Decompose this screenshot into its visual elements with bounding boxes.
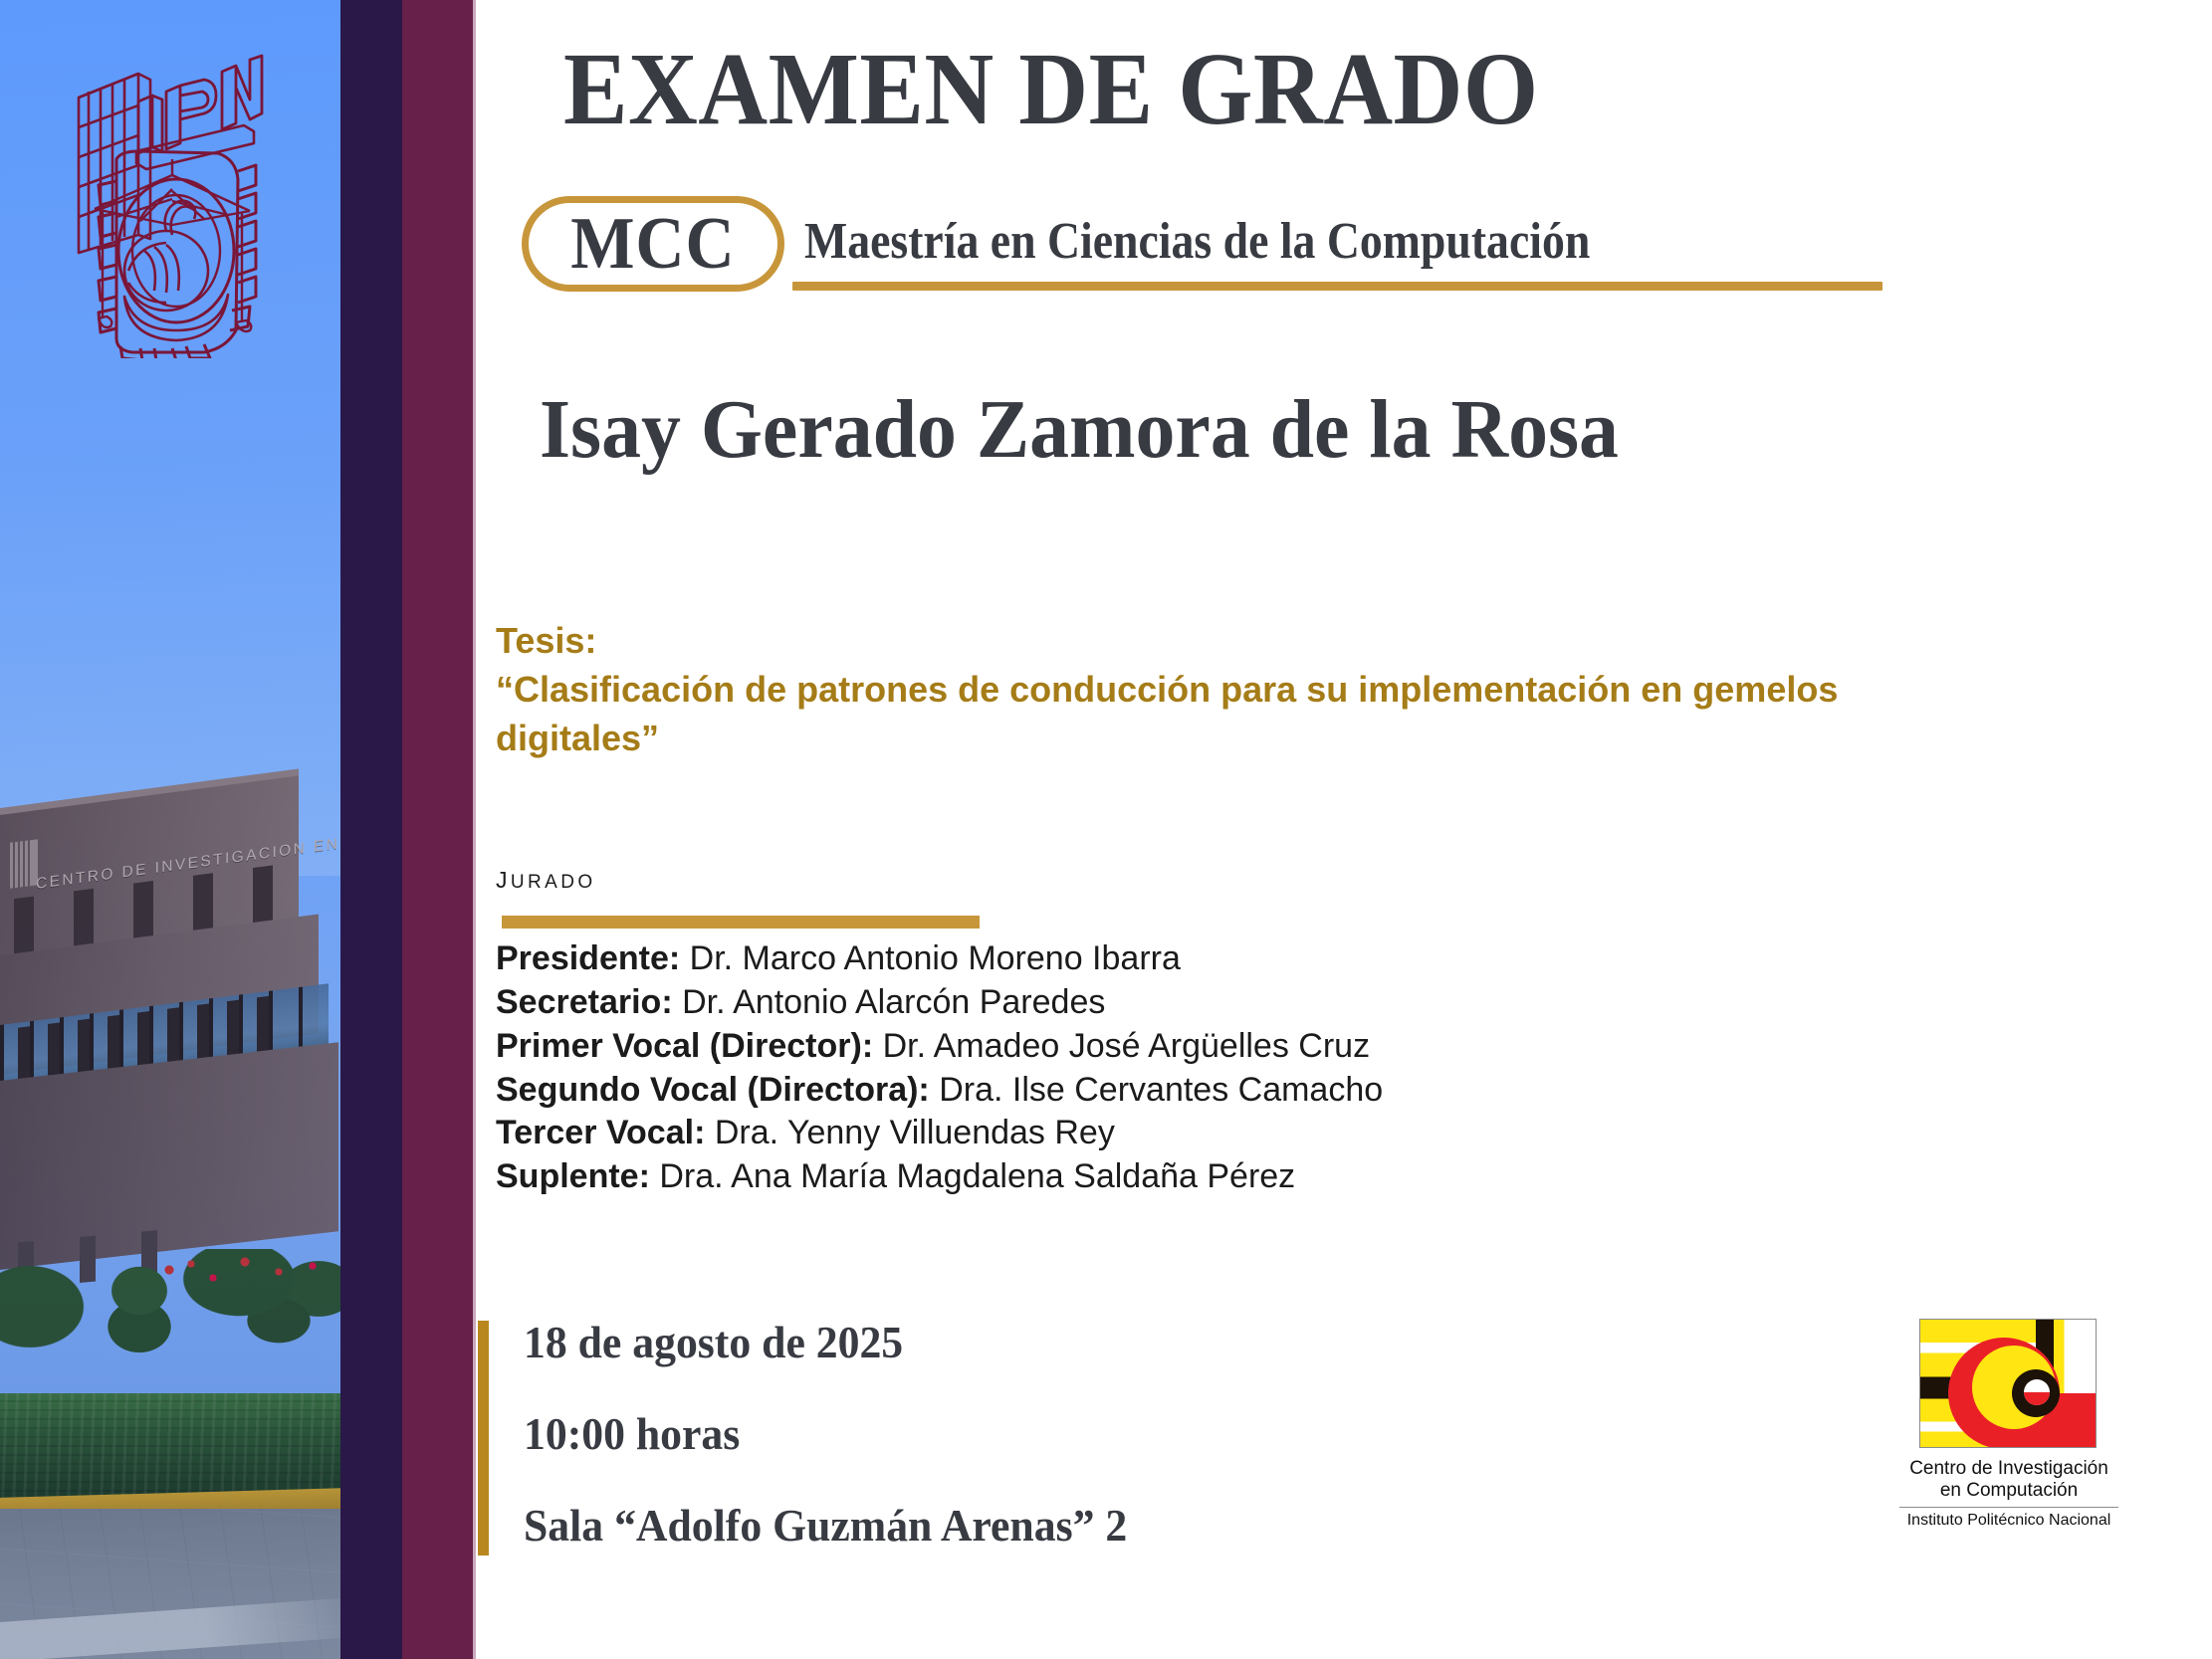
event-gold-bar: [478, 1321, 489, 1555]
event-details: 18 de agosto de 2025 10:00 horas Sala “A…: [524, 1316, 1159, 1552]
cic-logo-text: Centro de Investigación en Computación: [1899, 1458, 2118, 1503]
jury-role: Suplente:: [496, 1157, 650, 1195]
thesis-block: Tesis: “Clasificación de patrones de con…: [496, 617, 1989, 763]
cic-logo-mark: [1919, 1319, 2097, 1448]
jury-role: Segundo Vocal (Directora):: [496, 1071, 930, 1109]
jury-row: Tercer Vocal: Dra. Yenny Villuendas Rey: [496, 1112, 2049, 1155]
jury-list: Presidente: Dr. Marco Antonio Moreno Iba…: [496, 937, 2049, 1199]
ipn-emblem-logo: [55, 40, 264, 358]
event-date: 18 de agosto de 2025: [524, 1316, 1127, 1368]
jury-name: Dr. Antonio Alarcón Paredes: [673, 983, 1106, 1021]
program-name: Maestría en Ciencias de la Computación: [804, 216, 1590, 268]
jury-row: Suplente: Dra. Ana María Magdalena Salda…: [496, 1155, 2049, 1199]
jury-role: Primer Vocal (Director):: [496, 1027, 873, 1065]
jury-role: Presidente:: [496, 939, 680, 977]
decorative-navy-strip: [340, 0, 402, 1659]
jury-row: Segundo Vocal (Directora): Dra. Ilse Cer…: [496, 1069, 2049, 1113]
jury-row: Primer Vocal (Director): Dr. Amadeo José…: [496, 1025, 2049, 1069]
cic-line-3: Instituto Politécnico Nacional: [1899, 1507, 2118, 1530]
event-location: Sala “Adolfo Guzmán Arenas” 2: [524, 1499, 1127, 1552]
jury-name: Dr. Amadeo José Argüelles Cruz: [873, 1027, 1370, 1065]
jury-name: Dra. Yenny Villuendas Rey: [705, 1114, 1114, 1151]
poster-content: EXAMEN DE GRADO MCC Maestría en Ciencias…: [476, 0, 2212, 1659]
jury-gold-rule: [502, 916, 980, 929]
thesis-label: Tesis:: [496, 617, 1989, 666]
hedge-texture: [0, 1393, 340, 1501]
jury-role: Secretario:: [496, 983, 673, 1021]
red-flowers: [149, 1256, 340, 1306]
jury-name: Dra. Ana María Magdalena Saldaña Pérez: [650, 1157, 1295, 1195]
program-badge-label: MCC: [570, 207, 735, 281]
decorative-maroon-strip: [402, 0, 473, 1659]
program-badge: MCC: [522, 196, 784, 292]
jury-name: Dra. Ilse Cervantes Camacho: [930, 1071, 1383, 1109]
jury-row: Secretario: Dr. Antonio Alarcón Paredes: [496, 981, 2049, 1025]
campus-photo: CENTRO DE INVESTIGACION EN COMPUTACION: [0, 0, 340, 1659]
page-title: EXAMEN DE GRADO: [563, 38, 1539, 141]
cic-line-1: Centro de Investigación: [1899, 1458, 2118, 1480]
event-time: 10:00 horas: [524, 1407, 1127, 1460]
student-name: Isay Gerado Zamora de la Rosa: [540, 388, 1619, 472]
jury-name: Dr. Marco Antonio Moreno Ibarra: [680, 939, 1181, 977]
thesis-title: “Clasificación de patrones de conducción…: [496, 666, 1989, 763]
jury-role: Tercer Vocal:: [496, 1114, 705, 1151]
cic-line-2: en Computación: [1899, 1480, 2118, 1502]
jury-heading: Jurado: [496, 858, 596, 896]
header-gold-rule: [792, 282, 1882, 291]
cic-logo: Centro de Investigación en Computación I…: [1899, 1319, 2118, 1548]
jury-row: Presidente: Dr. Marco Antonio Moreno Iba…: [496, 937, 2049, 981]
building-crest-emblem: [10, 839, 38, 888]
